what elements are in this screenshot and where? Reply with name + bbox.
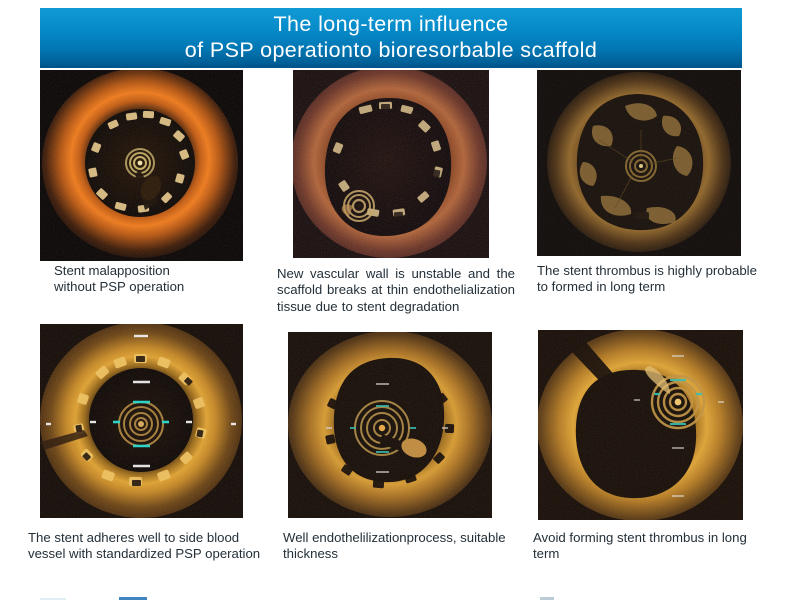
oct-image-no-thrombus xyxy=(538,330,743,520)
oct-stent-malapposition-svg xyxy=(40,70,243,261)
caption-no-thrombus: Avoid forming stent thrombus in long ter… xyxy=(533,530,758,563)
caption-stent-thrombus: The stent thrombus is highly probable to… xyxy=(537,263,757,296)
oct-image-stent-malapposition xyxy=(40,70,243,261)
oct-stent-thrombus-svg xyxy=(537,70,741,256)
oct-image-well-endothelialized xyxy=(288,332,492,518)
oct-well-endothelialized-svg xyxy=(288,332,492,518)
oct-no-thrombus-svg xyxy=(538,330,743,520)
caption-well-endothelialized: Well endothelilizationprocess, suitable … xyxy=(283,530,511,563)
oct-image-stent-thrombus xyxy=(537,70,741,256)
slide-title-line-2: of PSP operationto bioresorbable scaffol… xyxy=(185,37,597,63)
caption-stent-malapposition: Stent malapposition without PSP operatio… xyxy=(54,263,254,296)
caption-stent-well-apposed: The stent adheres well to side blood ves… xyxy=(28,530,263,563)
slide-title-line-1: The long-term influence xyxy=(273,11,508,37)
oct-scaffold-break-svg xyxy=(293,70,489,258)
oct-image-stent-well-apposed xyxy=(40,324,243,518)
caption-scaffold-break: New vascular wall is unstable and the sc… xyxy=(277,266,515,315)
oct-image-scaffold-break xyxy=(293,70,489,258)
oct-stent-well-apposed-svg xyxy=(40,324,243,518)
slide-title-banner: The long-term influence of PSP operation… xyxy=(40,8,742,68)
